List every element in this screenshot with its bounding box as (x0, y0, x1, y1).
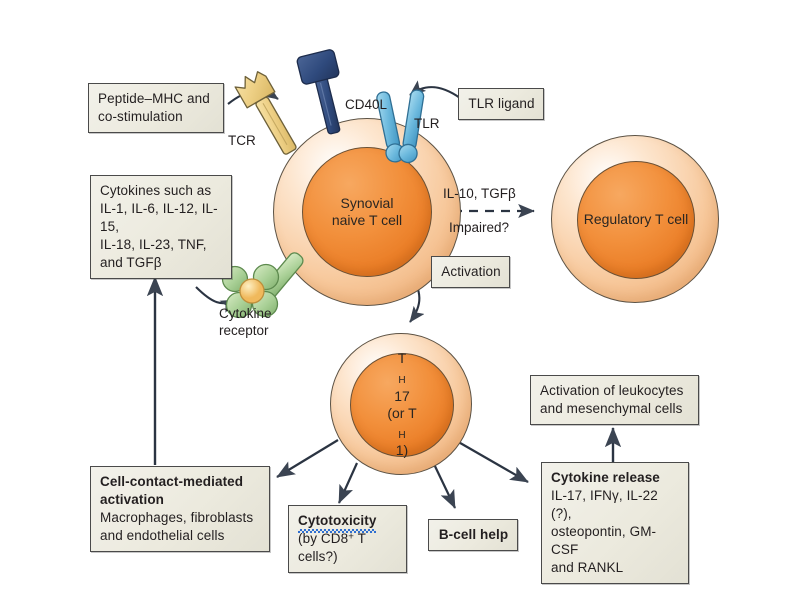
activation-leukocytes-box[interactable]: Activation of leukocytes and mesenchymal… (530, 375, 699, 425)
regulatory-t-cell-nucleus: Regulatory T cell (577, 161, 695, 279)
tcr-label: TCR (228, 132, 256, 150)
cytotoxicity-box[interactable]: Cytotoxicity (by CD8+ T cells?) (288, 505, 407, 573)
arrow-peptide-to-tcr (228, 91, 278, 104)
figure-canvas: Synovial naive T cell Regulatory T cell … (0, 0, 800, 600)
tlr-label: TLR (414, 115, 440, 133)
cytokines-line1: Cytokines such as (100, 182, 223, 200)
th17-label-line1: TH17 (387, 350, 416, 405)
regulatory-label: Regulatory T cell (584, 211, 689, 229)
b-cell-help-label: B-cell help (438, 526, 509, 544)
cd40l-label: CD40L (345, 96, 387, 114)
cytokine-release-heading: Cytokine release (551, 469, 680, 487)
il10-tgfb-label: IL-10, TGFβ (443, 185, 516, 203)
tlr-ligand-label: TLR ligand (468, 95, 535, 113)
synovial-label-line1: Synovial (332, 195, 402, 213)
cytokine-receptor-label-line2: receptor (219, 322, 269, 340)
cytokine-release-line2: osteopontin, GM-CSF (551, 523, 680, 559)
impaired-label: Impaired? (449, 219, 509, 237)
th17-label-line2: (or TH1) (387, 405, 416, 460)
cytotoxicity-body: (by CD8+ T cells?) (298, 530, 398, 566)
cytokine-release-box[interactable]: Cytokine release IL-17, IFNγ, IL-22 (?),… (541, 462, 689, 584)
cytokines-line4: and TGFβ (100, 254, 223, 272)
arrow-th17-to-cytotoxicity (339, 463, 357, 503)
regulatory-t-cell: Regulatory T cell (551, 135, 719, 303)
arrow-th17-to-cytokine-release (455, 440, 528, 482)
th17-cell: TH17 (or TH1) (330, 333, 472, 475)
synovial-naive-t-cell-nucleus: Synovial naive T cell (302, 147, 432, 277)
peptide-mhc-line1: Peptide–MHC and (98, 90, 215, 108)
b-cell-help-box[interactable]: B-cell help (428, 519, 518, 551)
activation-label: Activation (441, 263, 501, 281)
cytotoxicity-misspelled-word: Cytotoxicity (298, 512, 376, 530)
cytokines-such-as-box[interactable]: Cytokines such as IL-1, IL-6, IL-12, IL-… (90, 175, 232, 279)
arrow-th17-to-bcell-help (433, 462, 455, 508)
cell-contact-heading1: Cell-contact-mediated (100, 473, 261, 491)
cell-contact-box[interactable]: Cell-contact-mediated activation Macroph… (90, 466, 270, 552)
th17-cell-nucleus: TH17 (or TH1) (350, 353, 454, 457)
synovial-label-line2: naive T cell (332, 212, 402, 230)
cell-contact-heading2: activation (100, 491, 261, 509)
arrow-cytokines-to-receptor (196, 287, 236, 303)
cytokine-release-line3: and RANKL (551, 559, 680, 577)
cytokine-receptor-label-line1: Cytokine (219, 305, 272, 323)
activation-leukocytes-line1: Activation of leukocytes (540, 382, 690, 400)
cell-contact-line1: Macrophages, fibroblasts (100, 509, 261, 527)
cytotoxicity-heading: Cytotoxicity (298, 512, 398, 530)
cell-contact-line2: and endothelial cells (100, 527, 261, 545)
cytokine-release-line1: IL-17, IFNγ, IL-22 (?), (551, 487, 680, 523)
cytokines-line3: IL-18, IL-23, TNF, (100, 236, 223, 254)
tlr-ligand-box[interactable]: TLR ligand (458, 88, 544, 120)
cytokines-line2: IL-1, IL-6, IL-12, IL-15, (100, 200, 223, 236)
peptide-mhc-box[interactable]: Peptide–MHC and co-stimulation (88, 83, 224, 133)
activation-box[interactable]: Activation (431, 256, 510, 288)
arrow-th17-to-cell-contact (277, 440, 338, 477)
arrow-tlrligand-to-tlr (410, 87, 460, 98)
peptide-mhc-line2: co-stimulation (98, 108, 215, 126)
activation-leukocytes-line2: and mesenchymal cells (540, 400, 690, 418)
